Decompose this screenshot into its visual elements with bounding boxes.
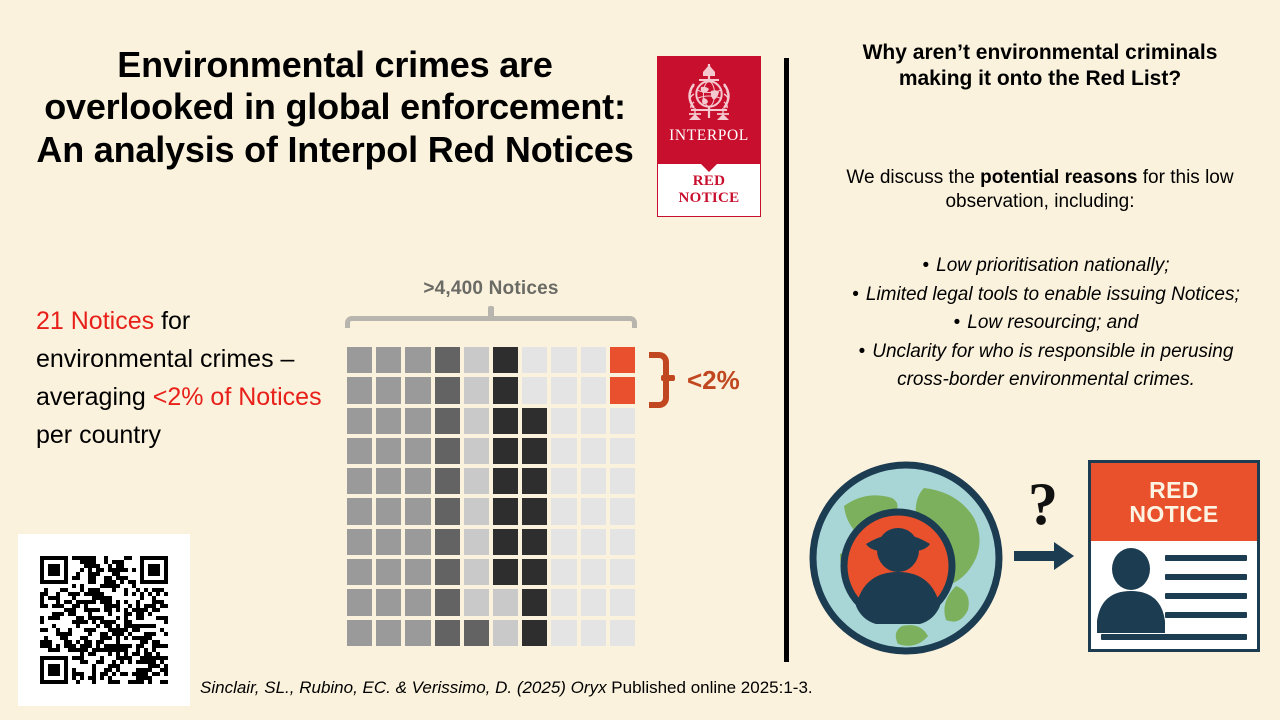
- waffle-cell: [549, 587, 578, 617]
- waffle-cell: [433, 587, 462, 617]
- waffle-cell: [345, 375, 374, 405]
- right-heading: Why aren’t environmental criminals makin…: [830, 40, 1250, 93]
- waffle-cell: [403, 466, 432, 496]
- bullet-icon: •: [922, 255, 929, 276]
- waffle-cell: [491, 557, 520, 587]
- waffle-cell: [462, 436, 491, 466]
- waffle-cell: [491, 587, 520, 617]
- waffle-cell: [374, 375, 403, 405]
- waffle-cell: [374, 406, 403, 436]
- waffle-cell: [608, 345, 637, 375]
- bullet-icon: •: [859, 341, 866, 362]
- vertical-divider: [784, 58, 789, 662]
- waffle-cell: [433, 375, 462, 405]
- waffle-cell: [462, 406, 491, 436]
- waffle-cell: [520, 345, 549, 375]
- bracket-tip: [661, 375, 675, 381]
- waffle-cell: [403, 375, 432, 405]
- reason-label: Low prioritisation nationally;: [936, 255, 1169, 276]
- waffle-cell: [491, 406, 520, 436]
- waffle-cell: [462, 496, 491, 526]
- bullet-icon: •: [852, 284, 859, 305]
- waffle-grid: [345, 345, 637, 648]
- waffle-cell: [462, 557, 491, 587]
- waffle-cell: [549, 436, 578, 466]
- waffle-cell: [608, 527, 637, 557]
- waffle-cell: [491, 375, 520, 405]
- waffle-cell: [549, 527, 578, 557]
- waffle-cell: [433, 436, 462, 466]
- waffle-cell: [549, 406, 578, 436]
- waffle-cell: [579, 375, 608, 405]
- waffle-cell: [345, 345, 374, 375]
- stat-red-1: 21 Notices: [36, 307, 154, 335]
- red-notice-card-body: [1091, 541, 1257, 649]
- waffle-cell: [345, 496, 374, 526]
- logo-notch-icon: [700, 163, 718, 172]
- waffle-cell: [433, 527, 462, 557]
- waffle-cell: [491, 527, 520, 557]
- qr-code[interactable]: [18, 534, 190, 706]
- bracket-bar: [345, 316, 637, 328]
- red-notice-card-header: RED NOTICE: [1091, 463, 1257, 541]
- waffle-cell: [549, 345, 578, 375]
- citation: Sinclair, SL., Rubino, EC. & Verissimo, …: [200, 678, 813, 698]
- waffle-cell: [491, 466, 520, 496]
- waffle-cell: [520, 618, 549, 648]
- interpol-wordmark: INTERPOL: [669, 127, 749, 145]
- waffle-cell: [433, 618, 462, 648]
- waffle-cell: [549, 375, 578, 405]
- person-and-lines-icon: [1091, 541, 1257, 647]
- waffle-cell: [520, 406, 549, 436]
- waffle-cell: [579, 466, 608, 496]
- waffle-cell: [579, 618, 608, 648]
- waffle-cell: [549, 466, 578, 496]
- slide-root: Environmental crimes are overlooked in g…: [0, 0, 1280, 720]
- waffle-cell: [520, 587, 549, 617]
- reason-item: •Low prioritisation nationally;: [836, 252, 1256, 281]
- globe-to-notice-graphic: ? RED NOTICE: [806, 452, 1264, 664]
- interpol-emblem-icon: [677, 60, 741, 126]
- left-stat-text: 21 Notices for environmental crimes – av…: [36, 302, 336, 454]
- qr-code-canvas: [28, 544, 180, 696]
- waffle-cell: [403, 436, 432, 466]
- waffle-cell: [579, 587, 608, 617]
- waffle-cell: [608, 436, 637, 466]
- red-notice-line-1: RED: [693, 173, 726, 190]
- stat-red-2: <2% of Notices: [153, 383, 322, 411]
- curly-bracket-icon: [645, 352, 665, 408]
- waffle-cell: [374, 527, 403, 557]
- waffle-cell: [462, 527, 491, 557]
- red-notice-card: RED NOTICE: [1088, 460, 1260, 652]
- waffle-cell: [579, 436, 608, 466]
- interpol-logo-bottom: RED NOTICE: [657, 164, 761, 217]
- waffle-cell: [345, 618, 374, 648]
- waffle-cell: [374, 587, 403, 617]
- waffle-cell: [579, 557, 608, 587]
- waffle-cell: [374, 345, 403, 375]
- waffle-cell: [579, 496, 608, 526]
- waffle-cell: [520, 375, 549, 405]
- waffle-cell: [579, 406, 608, 436]
- bullet-icon: •: [954, 312, 961, 333]
- waffle-cell: [520, 466, 549, 496]
- waffle-cell: [491, 618, 520, 648]
- waffle-cell: [374, 466, 403, 496]
- waffle-cell: [374, 436, 403, 466]
- page-title: Environmental crimes are overlooked in g…: [30, 44, 640, 171]
- waffle-cell: [520, 527, 549, 557]
- waffle-cell: [403, 345, 432, 375]
- waffle-cell: [345, 557, 374, 587]
- waffle-cell: [579, 527, 608, 557]
- waffle-cell: [608, 406, 637, 436]
- waffle-cell: [549, 618, 578, 648]
- waffle-cell: [345, 406, 374, 436]
- reason-label: Unclarity for who is responsible in peru…: [872, 341, 1233, 391]
- arrow-right-icon: [1014, 540, 1076, 572]
- waffle-cell: [520, 436, 549, 466]
- top-bracket-icon: [338, 306, 644, 328]
- waffle-cell: [549, 557, 578, 587]
- lead-pre: We discuss the: [846, 167, 980, 188]
- waffle-cell: [403, 557, 432, 587]
- right-lead-text: We discuss the potential reasons for thi…: [824, 166, 1256, 215]
- waffle-cell: [433, 496, 462, 526]
- citation-plain: Published online 2025:1-3.: [607, 678, 813, 697]
- waffle-cell: [462, 345, 491, 375]
- waffle-cell: [608, 618, 637, 648]
- reason-label: Low resourcing; and: [967, 312, 1138, 333]
- waffle-cell: [491, 436, 520, 466]
- waffle-cell: [608, 557, 637, 587]
- waffle-cell: [608, 466, 637, 496]
- question-mark-icon: ?: [1028, 470, 1058, 539]
- waffle-cell: [374, 557, 403, 587]
- citation-italic: Sinclair, SL., Rubino, EC. & Verissimo, …: [200, 678, 607, 697]
- waffle-cell: [608, 496, 637, 526]
- waffle-chart: >4,400 Notices: [338, 278, 644, 653]
- red-notice-line-2: NOTICE: [679, 190, 740, 207]
- interpol-logo-top: INTERPOL: [657, 56, 761, 164]
- waffle-cell: [403, 527, 432, 557]
- waffle-cell: [374, 496, 403, 526]
- globe-icon: [806, 458, 1006, 658]
- reason-item: •Low resourcing; and: [836, 309, 1256, 338]
- waffle-cell: [433, 557, 462, 587]
- waffle-cell: [403, 618, 432, 648]
- waffle-cell: [345, 466, 374, 496]
- interpol-red-notice-logo: INTERPOL RED NOTICE: [657, 56, 761, 217]
- waffle-cell: [608, 375, 637, 405]
- reasons-list: •Low prioritisation nationally;•Limited …: [836, 252, 1256, 395]
- waffle-cell: [433, 345, 462, 375]
- waffle-cell: [345, 587, 374, 617]
- waffle-cell: [520, 496, 549, 526]
- waffle-cell: [462, 618, 491, 648]
- percent-callout: <2%: [645, 352, 740, 408]
- reason-item: •Limited legal tools to enable issuing N…: [836, 281, 1256, 310]
- waffle-cell: [491, 345, 520, 375]
- waffle-cell: [462, 466, 491, 496]
- waffle-cell: [462, 587, 491, 617]
- waffle-cell: [549, 496, 578, 526]
- waffle-cell: [345, 527, 374, 557]
- percent-callout-label: <2%: [687, 365, 740, 396]
- waffle-cell: [433, 406, 462, 436]
- waffle-cell: [345, 436, 374, 466]
- waffle-cell: [491, 496, 520, 526]
- stat-post: per country: [36, 421, 161, 449]
- notice-title-line-1: RED: [1149, 478, 1199, 502]
- waffle-cell: [433, 466, 462, 496]
- lead-bold: potential reasons: [980, 167, 1137, 188]
- notice-title-line-2: NOTICE: [1129, 502, 1218, 526]
- waffle-cell: [403, 587, 432, 617]
- waffle-chart-label: >4,400 Notices: [338, 278, 644, 302]
- waffle-cell: [403, 406, 432, 436]
- reason-label: Limited legal tools to enable issuing No…: [866, 284, 1240, 305]
- waffle-cell: [579, 345, 608, 375]
- reason-item: •Unclarity for who is responsible in per…: [836, 338, 1256, 395]
- waffle-cell: [520, 557, 549, 587]
- waffle-cell: [462, 375, 491, 405]
- waffle-cell: [374, 618, 403, 648]
- waffle-cell: [403, 496, 432, 526]
- waffle-cell: [608, 587, 637, 617]
